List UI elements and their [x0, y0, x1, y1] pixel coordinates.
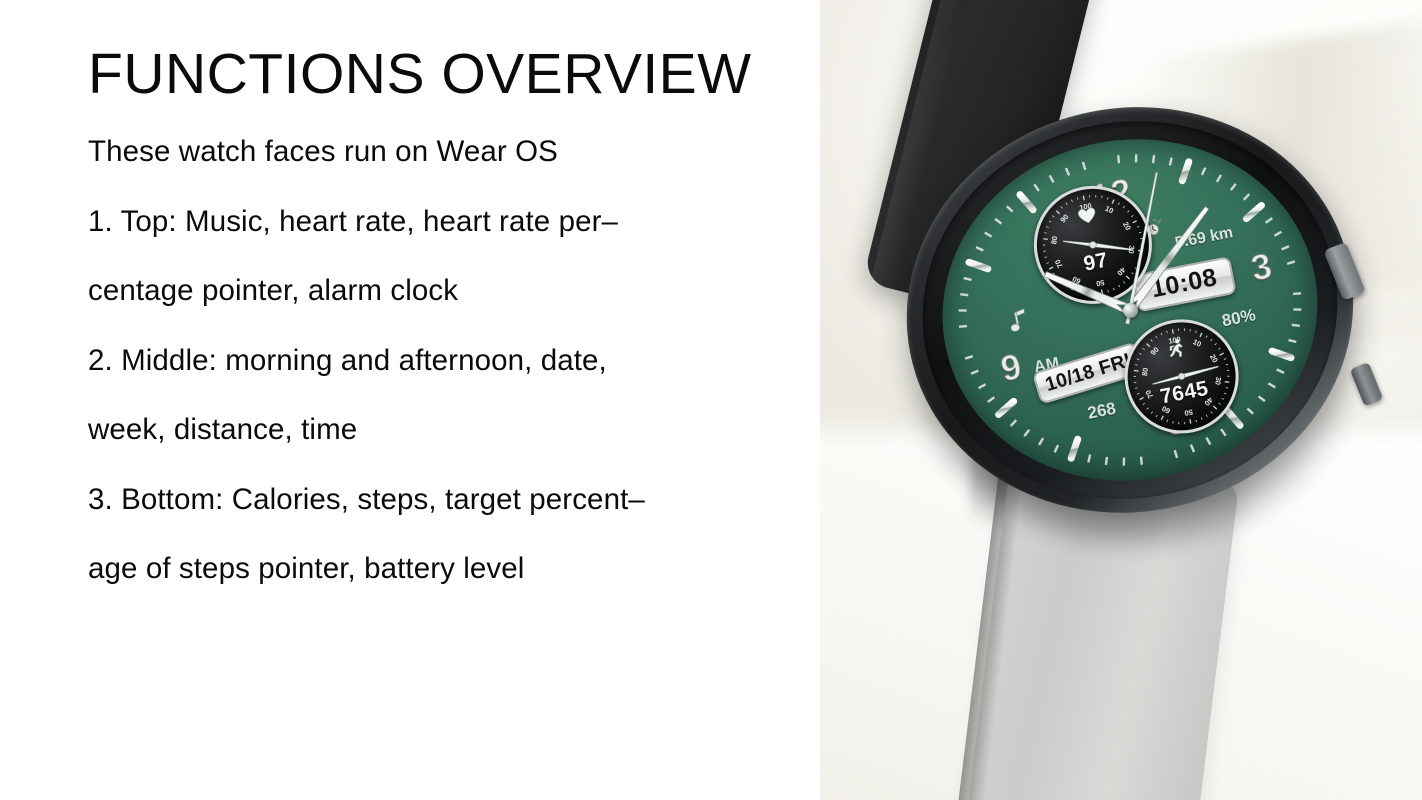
svg-text:90: 90 [1058, 212, 1070, 224]
svg-text:70: 70 [1143, 388, 1155, 400]
svg-text:80: 80 [1140, 367, 1150, 376]
heart-rate-subdial-scale: 100102030405060708090 [1027, 179, 1158, 310]
svg-text:30: 30 [1213, 376, 1223, 385]
body-line-7: age of steps pointer, battery level [88, 554, 878, 584]
svg-text:60: 60 [1070, 274, 1081, 286]
body-line-3: centage pointer, alarm clock [88, 276, 878, 306]
text-panel: FUNCTIONS OVERVIEW These watch faces run… [88, 46, 878, 624]
body-line-2: 1. Top: Music, heart rate, heart rate pe… [88, 207, 878, 237]
body-line-1: These watch faces run on Wear OS [88, 137, 878, 167]
heart-icon [1076, 206, 1098, 230]
svg-text:10: 10 [1191, 337, 1202, 349]
slide-root: FUNCTIONS OVERVIEW These watch faces run… [0, 0, 1422, 800]
watch-dial[interactable]: 12 3 6 9 [913, 107, 1347, 512]
dial-tick-marks-icon [913, 107, 1347, 512]
body-line-4: 2. Middle: morning and afternoon, date, [88, 346, 878, 376]
page-title: FUNCTIONS OVERVIEW [88, 46, 878, 103]
svg-text:40: 40 [1115, 265, 1127, 277]
watch-product-photo: 12 3 6 9 [820, 0, 1422, 800]
svg-text:70: 70 [1052, 258, 1064, 270]
svg-text:50: 50 [1183, 407, 1193, 417]
body-line-6: 3. Bottom: Calories, steps, target perce… [88, 485, 878, 515]
svg-text:90: 90 [1148, 345, 1160, 357]
steps-subdial-scale: 100102030405060708090 [1118, 313, 1245, 440]
svg-text:50: 50 [1095, 278, 1105, 288]
svg-text:20: 20 [1208, 353, 1220, 365]
watch-dial-surface: 12 3 6 9 [913, 107, 1347, 512]
heart-rate-value: 97 [1082, 248, 1110, 276]
svg-text:80: 80 [1049, 235, 1059, 244]
body-line-5: week, distance, time [88, 415, 878, 445]
svg-text:10: 10 [1103, 204, 1114, 216]
svg-text:20: 20 [1120, 220, 1132, 232]
